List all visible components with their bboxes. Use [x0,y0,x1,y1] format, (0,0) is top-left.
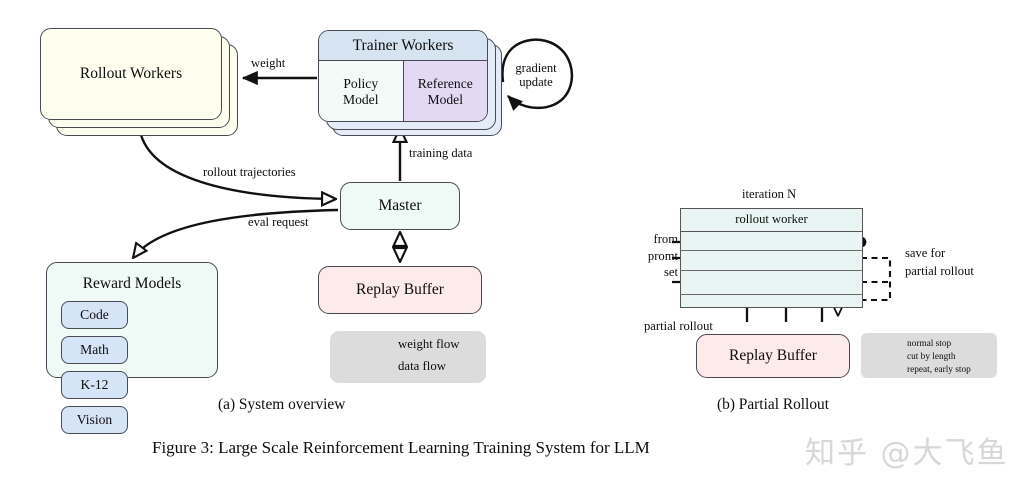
panel-b-title: iteration N [742,187,796,201]
panel-a-caption: (a) System overview [218,396,345,414]
legend-panel-a: weight flow data flow [330,331,486,383]
trainer-workers-title: Trainer Workers [319,31,487,61]
worker-row-sep-1 [680,250,863,251]
edge-label-gradient-update: gradient update [505,61,567,90]
reward-model-k12[interactable]: K-12 [61,371,128,399]
worker-row-sep-2 [680,270,863,271]
legend-b-item-repeat-early-stop: repeat, early stop [907,364,971,376]
legend-a-item-weight-flow: weight flow [398,337,460,352]
rollout-workers-label: Rollout Workers [80,65,182,82]
replay-buffer-node-b[interactable]: Replay Buffer [696,334,850,378]
legend-panel-b: normal stop cut by length repeat, early … [861,333,997,378]
legend-a-item-data-flow: data flow [398,359,446,374]
replay-buffer-node-a[interactable]: Replay Buffer [318,266,482,314]
reward-models-title: Reward Models [47,271,217,297]
reference-model-node[interactable]: Reference Model [404,61,488,122]
figure-caption: Figure 3: Large Scale Reinforcement Lear… [152,438,650,458]
policy-model-node[interactable]: Policy Model [319,61,404,122]
legend-b-item-normal-stop: normal stop [907,338,951,350]
master-label: Master [378,197,421,214]
reward-models-node[interactable]: Reward Models Code Math K-12 Vision [46,262,218,378]
figure-3-diagram: Rollout Workers Trainer Workers Policy M… [0,0,1015,486]
edge-label-eval-request: eval request [248,215,309,229]
rollout-worker-header: rollout worker [680,208,863,232]
replay-buffer-label-b: Replay Buffer [729,347,817,364]
trainer-workers-node[interactable]: Trainer Workers Policy Model Reference M… [318,30,488,122]
panel-b-caption: (b) Partial Rollout [717,396,829,414]
reward-model-code[interactable]: Code [61,301,128,329]
edge-label-rollout-trajectories: rollout trajectories [203,165,296,179]
reward-model-math[interactable]: Math [61,336,128,364]
reward-model-vision[interactable]: Vision [61,406,128,434]
panel-b-partial-rollout-label: partial rollout [644,319,713,333]
replay-buffer-label-a: Replay Buffer [356,281,444,298]
edge-label-weight: weight [251,56,285,70]
rollout-workers-node[interactable]: Rollout Workers [40,28,222,120]
legend-b-item-cut-by-length: cut by length [907,351,956,363]
panel-b-save-label: save for partial rollout [905,245,974,280]
panel-b-source-label: from promt set [634,231,678,281]
edge-label-training-data: training data [409,146,472,160]
master-node[interactable]: Master [340,182,460,230]
worker-row-sep-3 [680,294,863,295]
